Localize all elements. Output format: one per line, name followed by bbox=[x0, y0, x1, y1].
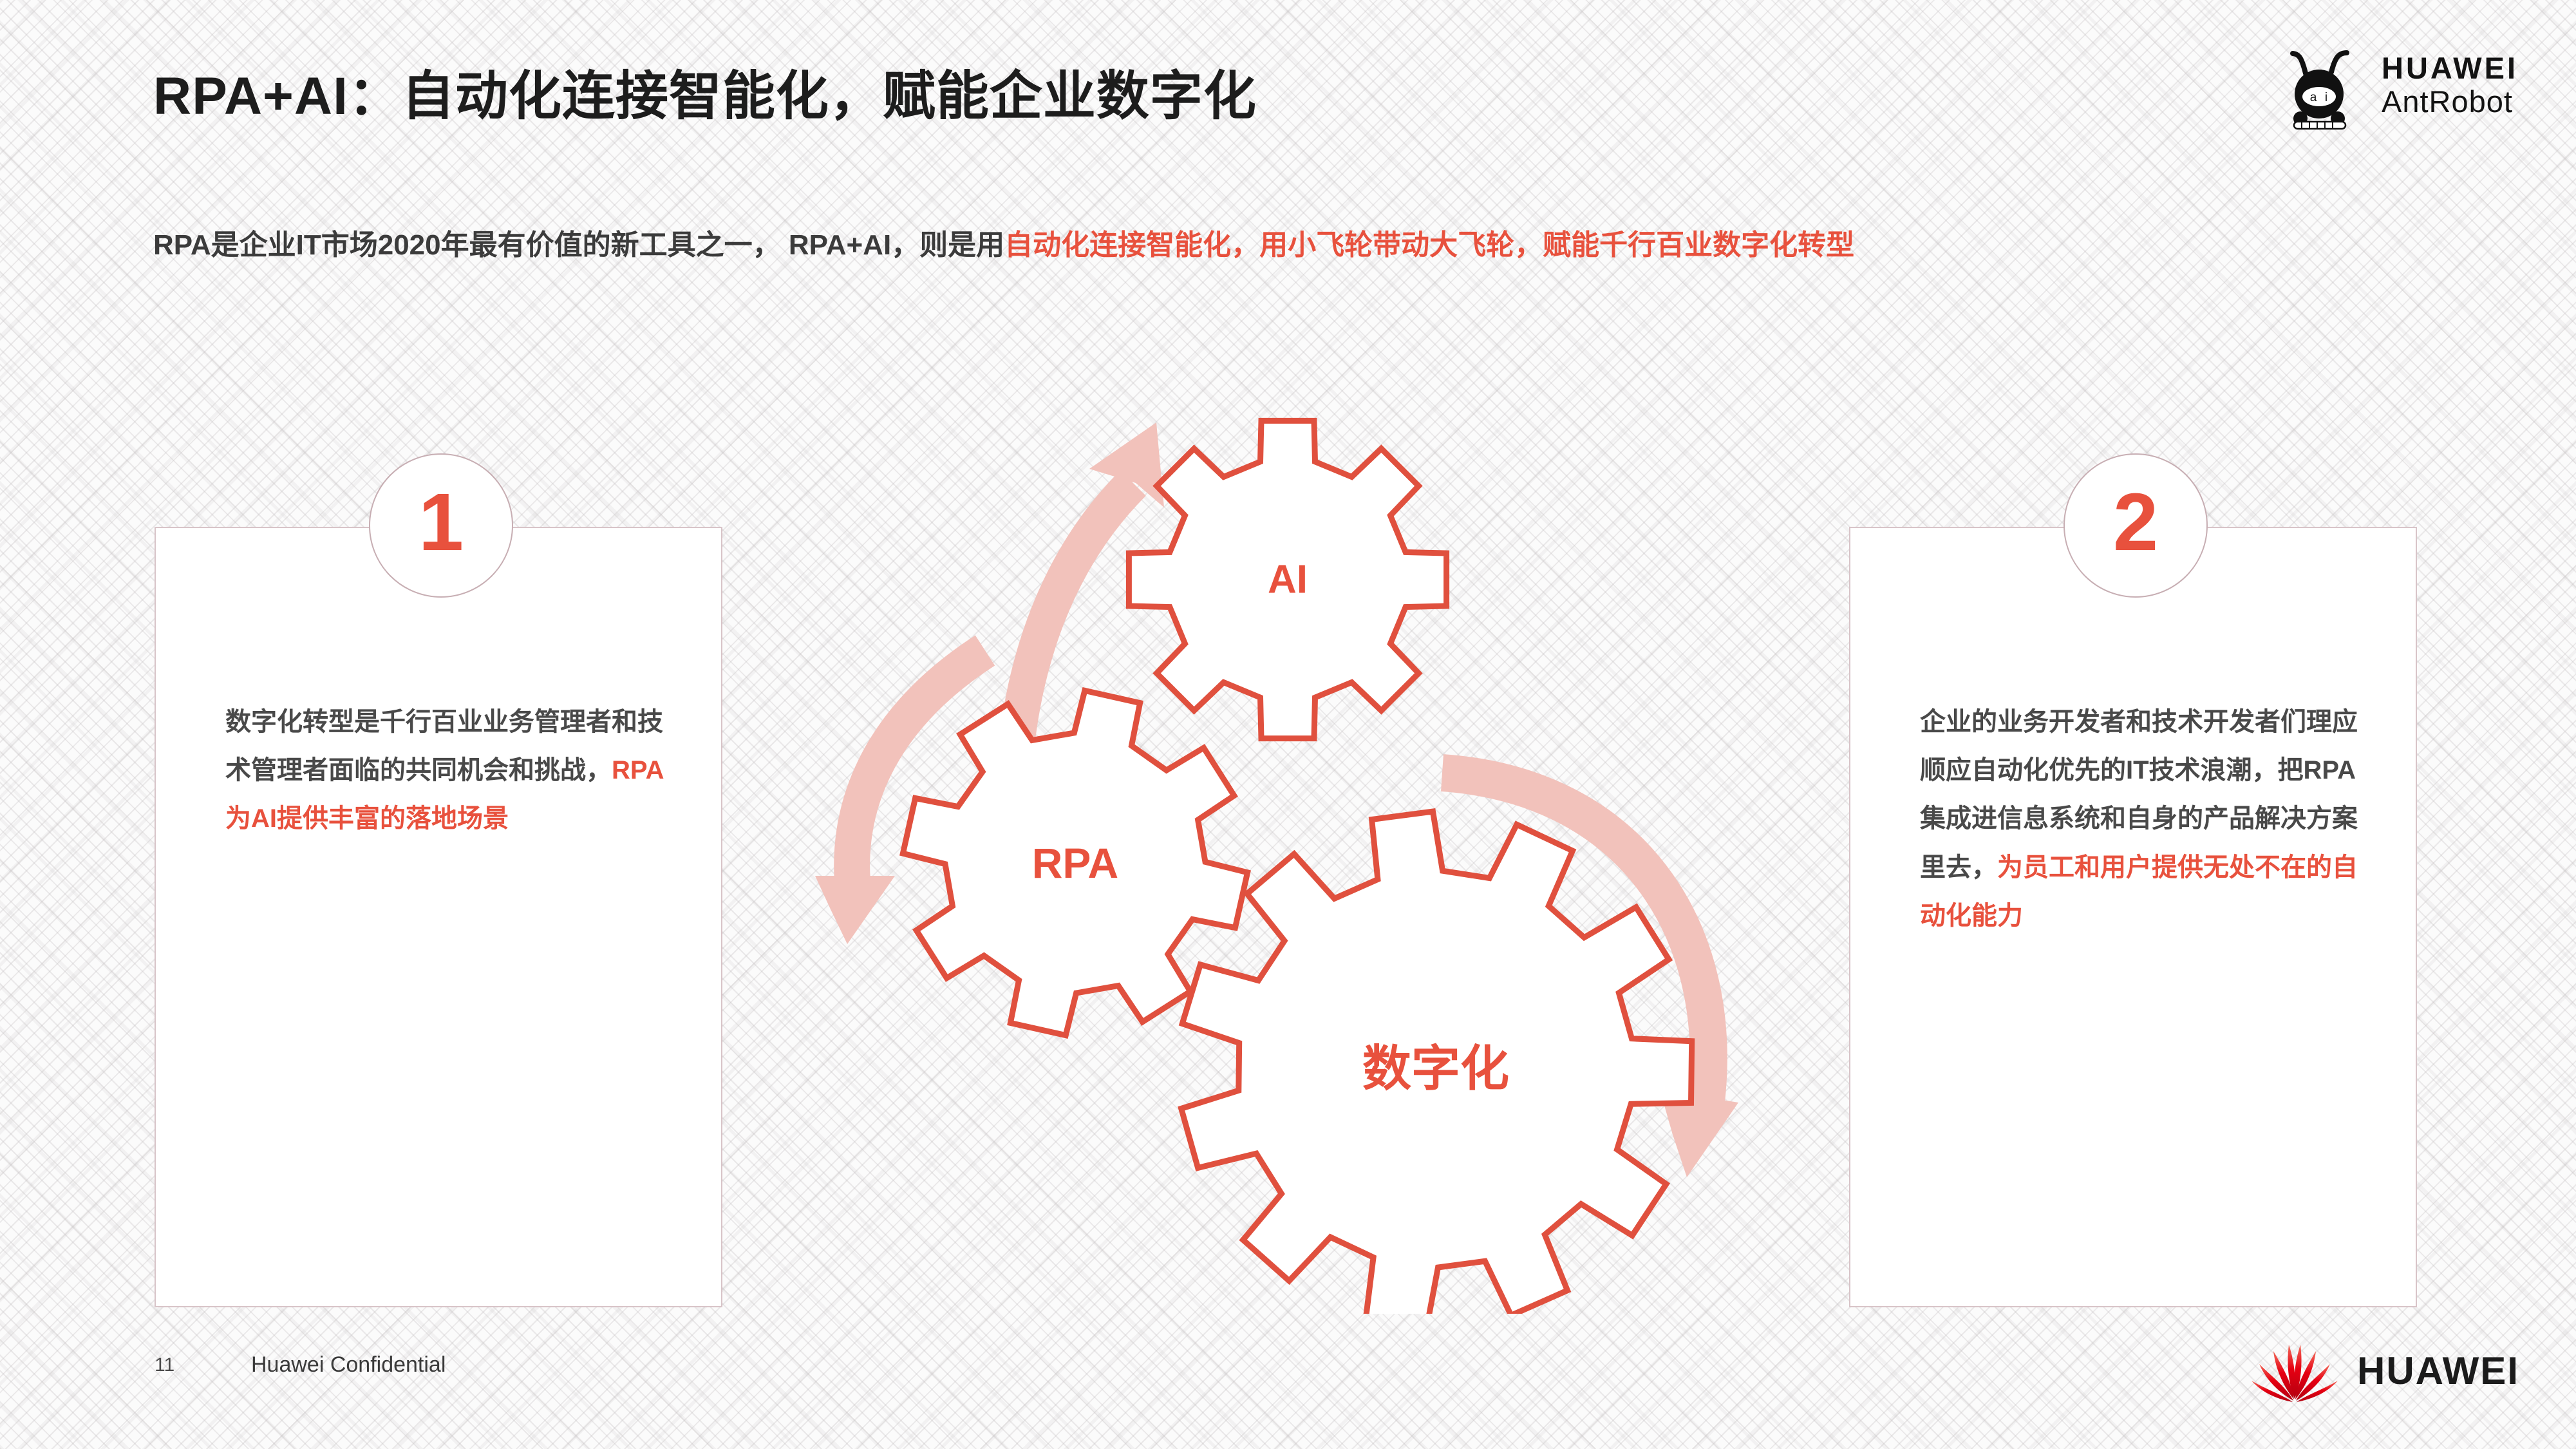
svg-text:a: a bbox=[2310, 91, 2317, 104]
card-1-plain-text: 数字化转型是千行百业业务管理者和技术管理者面临的共同机会和挑战， bbox=[225, 708, 663, 784]
antrobot-wordmark-line2: AntRobot bbox=[2382, 85, 2518, 118]
ant-robot-mascot-icon: a i bbox=[2280, 40, 2365, 130]
step-badge-1: 1 bbox=[369, 453, 513, 598]
huawei-antrobot-logo: a i HUAWEI AntRobot bbox=[2280, 40, 2518, 130]
gears-layer: AIRPA数字化 bbox=[903, 421, 1691, 1314]
gear-ai-label: AI bbox=[1268, 558, 1308, 602]
subtitle-accent-text: 自动化连接智能化，用小飞轮带动大飞轮，赋能千行百业数字化转型 bbox=[1004, 229, 1854, 261]
huawei-wordmark: HUAWEI bbox=[2357, 1349, 2519, 1393]
huawei-flower-icon bbox=[2249, 1337, 2340, 1404]
slide-canvas: RPA+AI：自动化连接智能化，赋能企业数字化 RPA是企业IT市场2020年最… bbox=[0, 0, 2576, 1449]
gear-rpa-label: RPA bbox=[1032, 839, 1118, 887]
huawei-logo: HUAWEI bbox=[2249, 1337, 2519, 1404]
gear-diagram: AIRPA数字化 bbox=[792, 386, 1758, 1314]
info-card-1-body: 数字化转型是千行百业业务管理者和技术管理者面临的共同机会和挑战，RPA为AI提供… bbox=[225, 698, 676, 844]
subtitle-plain-text: RPA是企业IT市场2020年最有价值的新工具之一， RPA+AI，则是用 bbox=[153, 229, 1004, 261]
footer-confidentiality-note: Huawei Confidential bbox=[251, 1352, 446, 1378]
antrobot-wordmark: HUAWEI AntRobot bbox=[2382, 52, 2518, 118]
info-card-1: 数字化转型是千行百业业务管理者和技术管理者面临的共同机会和挑战，RPA为AI提供… bbox=[155, 527, 722, 1307]
gear-ai: AI bbox=[1129, 421, 1446, 738]
subtitle: RPA是企业IT市场2020年最有价值的新工具之一， RPA+AI，则是用自动化… bbox=[153, 222, 2317, 268]
gear-shuzihua: 数字化 bbox=[1181, 811, 1692, 1314]
gear-shuzihua-label: 数字化 bbox=[1362, 1042, 1509, 1097]
page-title: RPA+AI：自动化连接智能化，赋能企业数字化 bbox=[153, 53, 1257, 129]
info-card-2: 企业的业务开发者和技术开发者们理应顺应自动化优先的IT技术浪潮，把RPA集成进信… bbox=[1849, 527, 2417, 1307]
footer-page-number: 11 bbox=[155, 1354, 174, 1376]
antrobot-wordmark-line1: HUAWEI bbox=[2382, 52, 2518, 85]
info-card-2-body: 企业的业务开发者和技术开发者们理应顺应自动化优先的IT技术浪潮，把RPA集成进信… bbox=[1920, 698, 2371, 940]
step-badge-2: 2 bbox=[2064, 453, 2208, 598]
svg-text:i: i bbox=[2325, 91, 2327, 104]
